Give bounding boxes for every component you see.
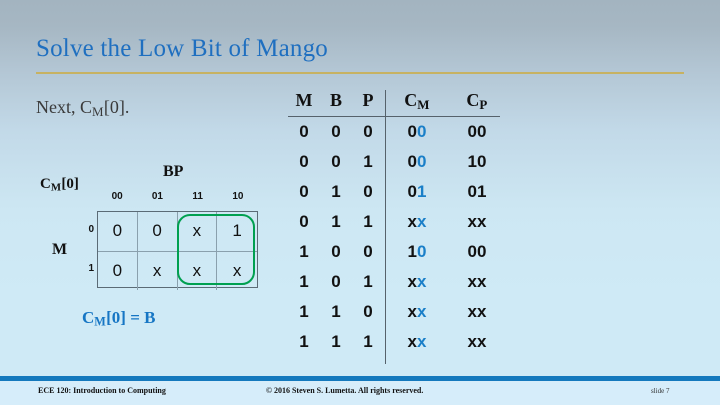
cell-cm-high-bit: 0 <box>408 182 417 201</box>
kmap-equation: CM[0] = B <box>82 308 156 330</box>
subtitle-suffix: [0]. <box>104 97 130 117</box>
cell-cp: 00 <box>447 122 507 142</box>
cell-cm-high-bit: x <box>408 302 417 321</box>
column-header-b: B <box>320 90 352 111</box>
cell-b: 1 <box>320 302 352 322</box>
cell-cm-low-bit: x <box>417 332 426 351</box>
kmap-equation-suffix: [0] = B <box>106 308 155 327</box>
cell-cm: xx <box>387 302 447 322</box>
cell-cp: 10 <box>447 152 507 172</box>
kmap-column-headers: 00 01 11 10 <box>97 191 258 202</box>
truth-table: M B P CM CP 0 0 0 00 00 0 0 1 00 10 0 1 <box>288 90 507 357</box>
kmap-cell[interactable]: x <box>178 252 218 291</box>
truth-table-header-row: M B P CM CP <box>288 90 507 115</box>
footer-slide-number: slide 7 <box>651 387 669 395</box>
cell-cp: xx <box>447 272 507 292</box>
cell-m: 0 <box>288 122 320 142</box>
cell-p: 0 <box>352 182 384 202</box>
subtitle-subscript: M <box>92 104 104 119</box>
table-row: 1 1 0 xx xx <box>288 297 507 327</box>
cell-cm-low-bit: x <box>417 302 426 321</box>
kmap-row-header-1: 1 <box>80 250 94 289</box>
cell-cm: 00 <box>387 122 447 142</box>
cell-cm-low-bit: 0 <box>417 242 426 261</box>
table-row: 1 0 0 10 00 <box>288 237 507 267</box>
kmap-cell[interactable]: x <box>178 212 218 251</box>
cell-cp: xx <box>447 302 507 322</box>
cell-cm: xx <box>387 212 447 232</box>
cell-m: 0 <box>288 182 320 202</box>
subtitle-prefix: Next, C <box>36 97 92 117</box>
cell-b: 1 <box>320 332 352 352</box>
cell-m: 0 <box>288 152 320 172</box>
kmap-output-label-suffix: [0] <box>61 176 79 192</box>
footer-course-label: ECE 120: Introduction to Computing <box>38 386 166 395</box>
kmap-col-header-01: 01 <box>137 191 177 202</box>
cell-b: 1 <box>320 182 352 202</box>
truth-table-vertical-divider <box>385 90 386 364</box>
cell-cm-high-bit: 0 <box>408 122 417 141</box>
cell-cp: xx <box>447 212 507 232</box>
cell-cm-low-bit: x <box>417 272 426 291</box>
cell-p: 1 <box>352 152 384 172</box>
column-header-cm: CM <box>387 90 447 113</box>
cell-m: 1 <box>288 272 320 292</box>
cell-cm: 00 <box>387 152 447 172</box>
column-header-cm-prefix: C <box>404 90 417 110</box>
slide-canvas: Solve the Low Bit of Mango Next, CM[0]. … <box>0 0 720 405</box>
cell-cm: xx <box>387 272 447 292</box>
table-row: 0 0 0 00 00 <box>288 117 507 147</box>
column-header-m: M <box>288 90 320 111</box>
kmap-row-header-0: 0 <box>80 211 94 250</box>
footer-copyright: © 2016 Steven S. Lumetta. All rights res… <box>266 386 423 395</box>
cell-p: 0 <box>352 302 384 322</box>
kmap-col-header-11: 11 <box>178 191 218 202</box>
kmap-cell[interactable]: 0 <box>138 212 178 251</box>
cell-cm-high-bit: x <box>408 212 417 231</box>
cell-cm-low-bit: 1 <box>417 182 426 201</box>
cell-cm-high-bit: 0 <box>408 152 417 171</box>
kmap-row: 0 x x x <box>98 252 257 291</box>
cell-p: 0 <box>352 122 384 142</box>
cell-cm: 10 <box>387 242 447 262</box>
cell-b: 1 <box>320 212 352 232</box>
cell-cp: 01 <box>447 182 507 202</box>
cell-p: 0 <box>352 242 384 262</box>
cell-cm-low-bit: 0 <box>417 122 426 141</box>
page-title: Solve the Low Bit of Mango <box>36 35 328 63</box>
subtitle-text: Next, CM[0]. <box>36 97 129 120</box>
kmap-output-label-subscript: M <box>51 181 62 193</box>
kmap-cell[interactable]: 0 <box>98 252 138 291</box>
kmap-col-header-10: 10 <box>218 191 258 202</box>
cell-m: 1 <box>288 332 320 352</box>
kmap-output-label: CM[0] <box>40 176 79 193</box>
kmap-column-variable-label: BP <box>163 163 183 181</box>
cell-m: 1 <box>288 242 320 262</box>
column-header-cp: CP <box>447 90 507 113</box>
column-header-p: P <box>352 90 384 111</box>
cell-cm-high-bit: x <box>408 272 417 291</box>
table-row: 1 0 1 xx xx <box>288 267 507 297</box>
title-underline-rule <box>36 72 684 74</box>
kmap-grid: 0 0 x 1 0 x x x <box>97 211 258 288</box>
cell-b: 0 <box>320 242 352 262</box>
cell-cm-high-bit: x <box>408 332 417 351</box>
kmap-cell[interactable]: 1 <box>217 212 257 251</box>
table-row: 0 1 1 xx xx <box>288 207 507 237</box>
cell-b: 0 <box>320 152 352 172</box>
cell-p: 1 <box>352 332 384 352</box>
kmap-cell[interactable]: x <box>138 252 178 291</box>
kmap-row-variable-label: M <box>52 241 67 259</box>
table-row: 0 0 1 00 10 <box>288 147 507 177</box>
kmap-cell[interactable]: 0 <box>98 212 138 251</box>
table-row: 1 1 1 xx xx <box>288 327 507 357</box>
cell-cm: 01 <box>387 182 447 202</box>
cell-m: 1 <box>288 302 320 322</box>
cell-cm-low-bit: 0 <box>417 152 426 171</box>
kmap-row-headers: 0 1 <box>80 211 94 288</box>
column-header-cm-subscript: M <box>417 97 430 112</box>
kmap-output-label-prefix: C <box>40 176 51 192</box>
cell-cp: 00 <box>447 242 507 262</box>
column-header-cp-subscript: P <box>479 97 487 112</box>
kmap-equation-prefix: C <box>82 308 94 327</box>
cell-cm: xx <box>387 332 447 352</box>
cell-b: 0 <box>320 272 352 292</box>
cell-b: 0 <box>320 122 352 142</box>
kmap-equation-subscript: M <box>94 315 106 329</box>
cell-cm-high-bit: 1 <box>408 242 417 261</box>
cell-cp: xx <box>447 332 507 352</box>
kmap-col-header-00: 00 <box>97 191 137 202</box>
kmap-cell[interactable]: x <box>217 252 257 291</box>
table-row: 0 1 0 01 01 <box>288 177 507 207</box>
cell-cm-low-bit: x <box>417 212 426 231</box>
cell-m: 0 <box>288 212 320 232</box>
kmap-row: 0 0 x 1 <box>98 212 257 252</box>
cell-p: 1 <box>352 272 384 292</box>
column-header-cp-prefix: C <box>466 90 479 110</box>
cell-p: 1 <box>352 212 384 232</box>
